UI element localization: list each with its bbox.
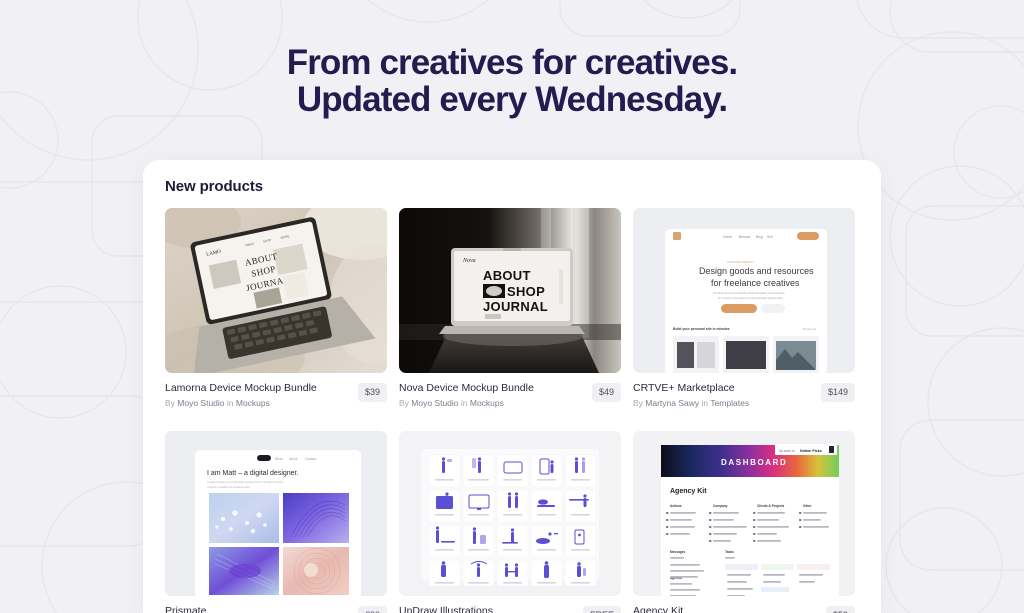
product-name: Prismate xyxy=(165,605,284,613)
product-meta: Lamorna Device Mockup Bundle By Moyo Stu… xyxy=(165,382,387,409)
product-card[interactable]: WorkAboutContact I am Matt – a digital d… xyxy=(165,431,387,613)
product-meta: CRTVE+ Marketplace By Martyna Sawy in Te… xyxy=(633,382,855,409)
svg-text:Blog: Blog xyxy=(756,235,763,239)
svg-text:Company: Company xyxy=(713,504,728,508)
svg-text:Build your personal site in mi: Build your personal site in minutes xyxy=(673,327,730,331)
product-byline: By Moyo Studio in Mockups xyxy=(399,398,534,409)
product-price-badge: $49 xyxy=(592,383,621,402)
hero-line-1: From creatives for creatives. xyxy=(0,44,1024,81)
product-name: Agency Kit xyxy=(633,605,726,613)
svg-text:The finest and most carefully: The finest and most carefully curated te… xyxy=(713,291,785,295)
product-meta: Prismate By Arvydas Gečas in Templates €… xyxy=(165,605,387,613)
svg-text:JOURNAL: JOURNAL xyxy=(483,299,548,314)
product-card[interactable]: Nova ABOUT SHOP JOURNAL Nova Device Mock… xyxy=(399,208,621,409)
hero-line-2: Updated every Wednesday. xyxy=(0,81,1024,118)
svg-text:As seen in: As seen in xyxy=(779,449,795,453)
product-name: UnDraw Illustrations xyxy=(399,605,534,613)
product-card[interactable]: LAMO MENUSHOPMORE ABOUT SHOP JOURNAL xyxy=(165,208,387,409)
hero-heading: From creatives for creatives. Updated ev… xyxy=(0,44,1024,118)
svg-text:ABOUT: ABOUT xyxy=(483,268,531,283)
page-title: New products xyxy=(165,178,263,195)
svg-text:I create branding and interact: I create branding and interactive experi… xyxy=(207,480,284,484)
svg-text:SHOP: SHOP xyxy=(507,284,545,299)
product-card[interactable]: DASHBOARD As seen in Notion Picks Agency… xyxy=(633,431,855,613)
svg-text:Notion Picks: Notion Picks xyxy=(800,449,822,453)
svg-text:Tasks: Tasks xyxy=(725,550,734,554)
product-name: Nova Device Mockup Bundle xyxy=(399,382,534,395)
product-thumbnail-undraw[interactable] xyxy=(399,431,621,596)
product-byline: By Martyna Sawy in Templates xyxy=(633,398,749,409)
svg-text:Browse: Browse xyxy=(739,235,750,239)
svg-text:for everyone who wants to buil: for everyone who wants to build a beauti… xyxy=(718,296,784,300)
svg-text:DASHBOARD: DASHBOARD xyxy=(721,458,787,467)
product-price-badge: $39 xyxy=(358,383,387,402)
svg-text:Sell: Sell xyxy=(767,235,773,239)
new-products-panel: New products xyxy=(143,160,881,613)
product-byline: By Moyo Studio in Mockups xyxy=(165,398,317,409)
product-thumbnail-nova[interactable]: Nova ABOUT SHOP JOURNAL xyxy=(399,208,621,373)
product-grid: LAMO MENUSHOPMORE ABOUT SHOP JOURNAL xyxy=(165,208,859,613)
product-thumbnail-lamorna[interactable]: LAMO MENUSHOPMORE ABOUT SHOP JOURNAL xyxy=(165,208,387,373)
svg-text:Work: Work xyxy=(275,457,283,461)
landing-page: From creatives for creatives. Updated ev… xyxy=(0,0,1024,613)
product-price-badge: $59 xyxy=(826,606,855,613)
product-card[interactable]: HomeBrowseBlogSell CURATED WEEKLY Design… xyxy=(633,208,855,409)
svg-text:Browse all: Browse all xyxy=(803,327,816,331)
product-meta: Agency Kit By Matt Bio in Templates $59 xyxy=(633,605,855,613)
svg-text:for freelance creatives: for freelance creatives xyxy=(711,278,800,288)
product-name: CRTVE+ Marketplace xyxy=(633,382,749,395)
svg-text:Nova: Nova xyxy=(462,258,476,264)
product-meta: UnDraw Illustrations By Katerina Limpits… xyxy=(399,605,621,613)
svg-text:Currently available for freela: Currently available for freelance work. xyxy=(207,485,251,489)
svg-text:Messages: Messages xyxy=(670,550,685,554)
product-price-badge: FREE xyxy=(583,606,621,613)
svg-text:Contact: Contact xyxy=(305,457,316,461)
svg-text:Agency Kit: Agency Kit xyxy=(670,488,707,495)
product-price-badge: $149 xyxy=(821,383,855,402)
product-name: Lamorna Device Mockup Bundle xyxy=(165,382,317,395)
product-thumbnail-prismate[interactable]: WorkAboutContact I am Matt – a digital d… xyxy=(165,431,387,596)
svg-text:CURATED WEEKLY: CURATED WEEKLY xyxy=(727,260,754,264)
svg-text:Actions: Actions xyxy=(670,504,682,508)
product-thumbnail-agency-kit[interactable]: DASHBOARD As seen in Notion Picks Agency… xyxy=(633,431,855,596)
svg-text:Other: Other xyxy=(803,504,812,508)
product-meta: Nova Device Mockup Bundle By Moyo Studio… xyxy=(399,382,621,409)
svg-text:Design goods and resources: Design goods and resources xyxy=(699,266,814,276)
product-card[interactable]: UnDraw Illustrations By Katerina Limpits… xyxy=(399,431,621,613)
product-price-badge: €20 xyxy=(358,606,387,613)
svg-text:I am Matt – a digital designer: I am Matt – a digital designer. xyxy=(207,470,298,477)
svg-text:Home: Home xyxy=(723,235,732,239)
product-thumbnail-crtve[interactable]: HomeBrowseBlogSell CURATED WEEKLY Design… xyxy=(633,208,855,373)
svg-text:Clients & Projects: Clients & Projects xyxy=(757,504,785,508)
svg-text:About: About xyxy=(289,457,297,461)
